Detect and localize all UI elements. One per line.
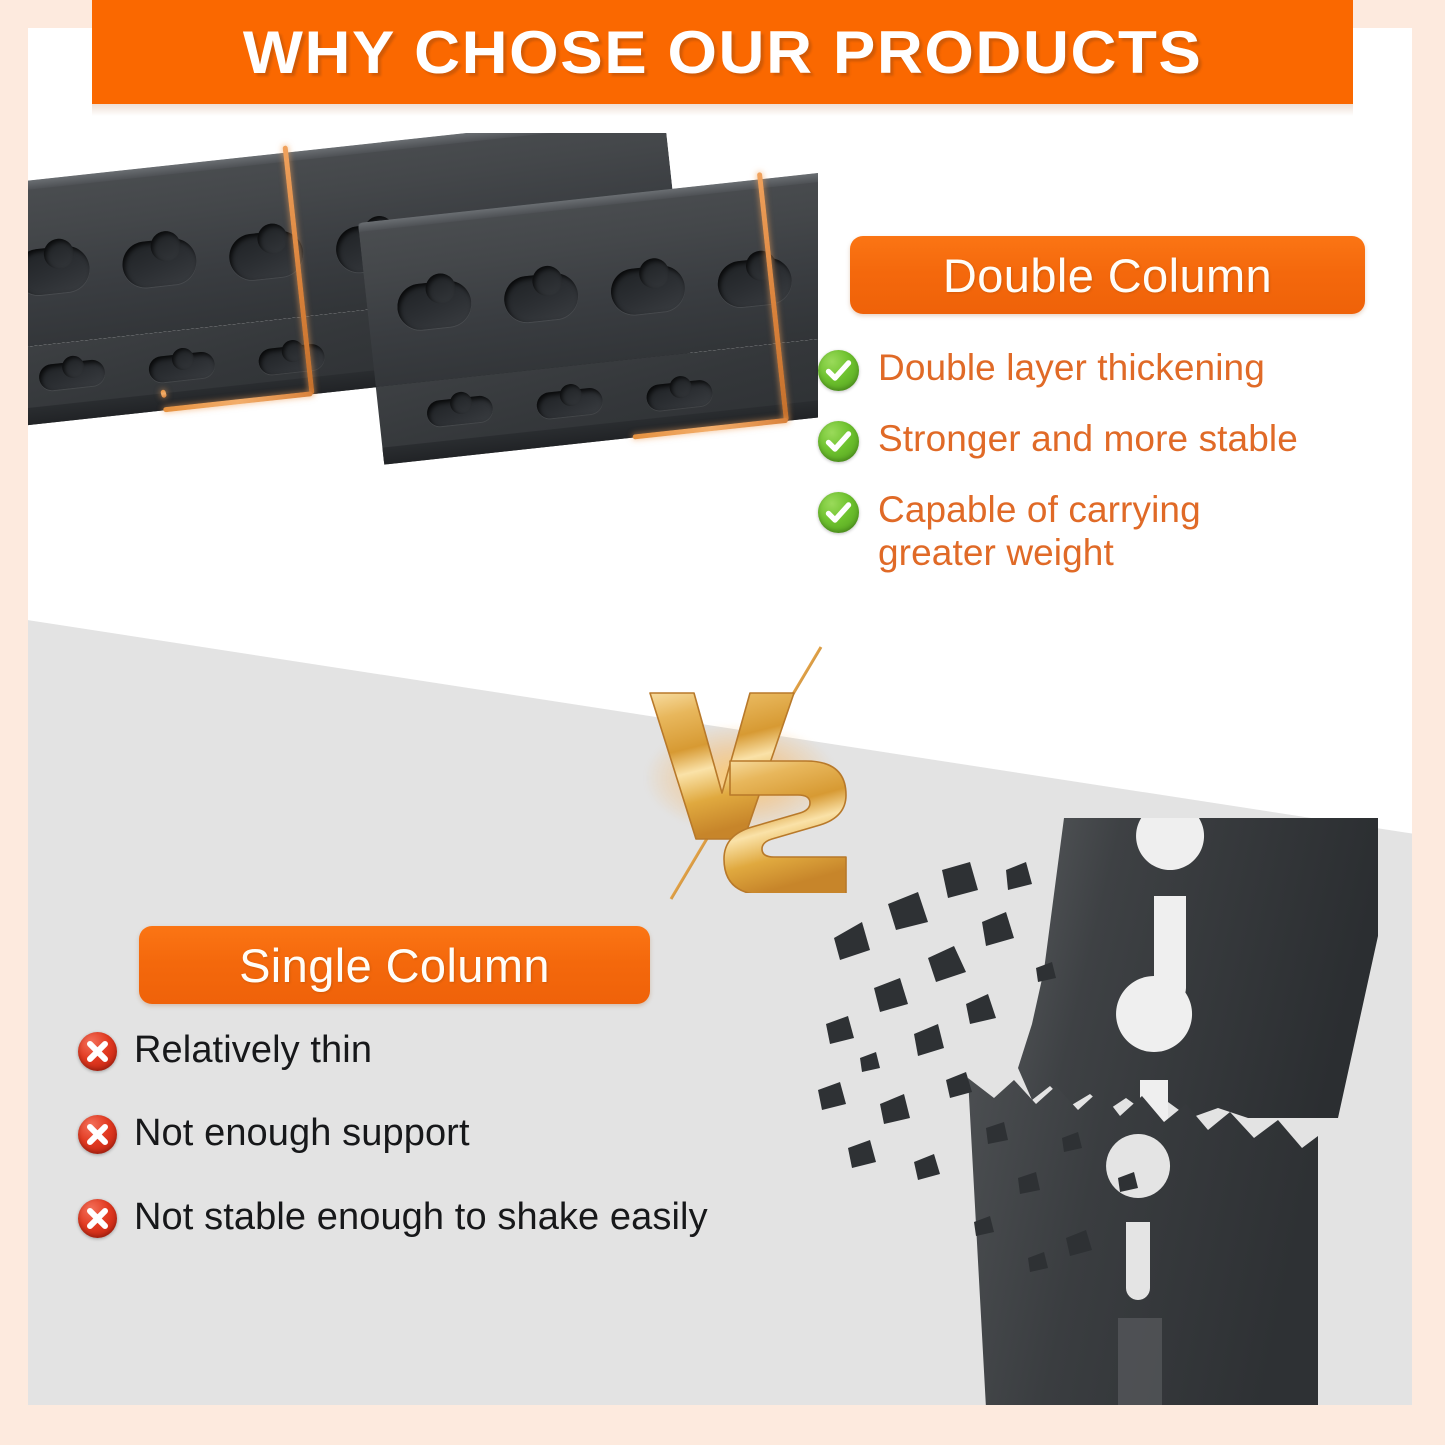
x-circle-icon [78,1032,117,1071]
double-column-badge-label: Double Column [943,248,1272,303]
list-item-label: Double layer thickening [878,346,1265,389]
list-item: Stronger and more stable [818,417,1412,462]
rail-slot [715,256,794,310]
rail-slot [426,395,494,428]
rail-slot [609,263,688,317]
check-circle-icon [818,492,859,533]
single-column-badge-label: Single Column [239,938,550,993]
rail-slot [502,271,581,325]
list-item-label: Capable of carrying greater weight [878,488,1278,575]
list-item: Double layer thickening [818,346,1412,391]
broken-single-column-photo [818,818,1412,1405]
list-item-label: Relatively thin [134,1028,372,1072]
pros-list: Double layer thickening Stronger and mor… [818,346,1412,601]
rail-slot [120,236,199,290]
rail-slot [257,343,325,376]
list-item: Not enough support [78,1111,858,1155]
rail-slot [38,359,106,392]
rail-slot [645,379,713,412]
rail-slot [28,244,92,298]
rail-slot [395,278,474,332]
broken-post-lower [968,1078,1318,1405]
check-circle-icon [818,350,859,391]
content-card: Double Column Double layer thickening St… [28,28,1412,1405]
versus-emblem [626,653,856,893]
page-title-banner: WHY CHOSE OUR PRODUCTS [92,0,1353,104]
rail-slot [148,351,216,384]
page-title: WHY CHOSE OUR PRODUCTS [243,18,1203,87]
list-item-label: Not enough support [134,1111,470,1155]
double-column-badge: Double Column [850,236,1365,314]
double-column-rail-photo [28,133,818,613]
rail-slot [535,387,603,420]
versus-text [626,653,856,893]
check-circle-icon [818,421,859,462]
single-column-badge: Single Column [139,926,650,1004]
list-item: Relatively thin [78,1028,858,1072]
x-circle-icon [78,1199,117,1238]
list-item: Not stable enough to shake easily [78,1195,858,1239]
cons-list: Relatively thin Not enough support Not s… [78,1028,858,1278]
list-item-label: Not stable enough to shake easily [134,1195,708,1239]
x-circle-icon [78,1115,117,1154]
list-item-label: Stronger and more stable [878,417,1298,460]
banner-drop-shadow [92,104,1353,116]
list-item: Capable of carrying greater weight [818,488,1412,575]
